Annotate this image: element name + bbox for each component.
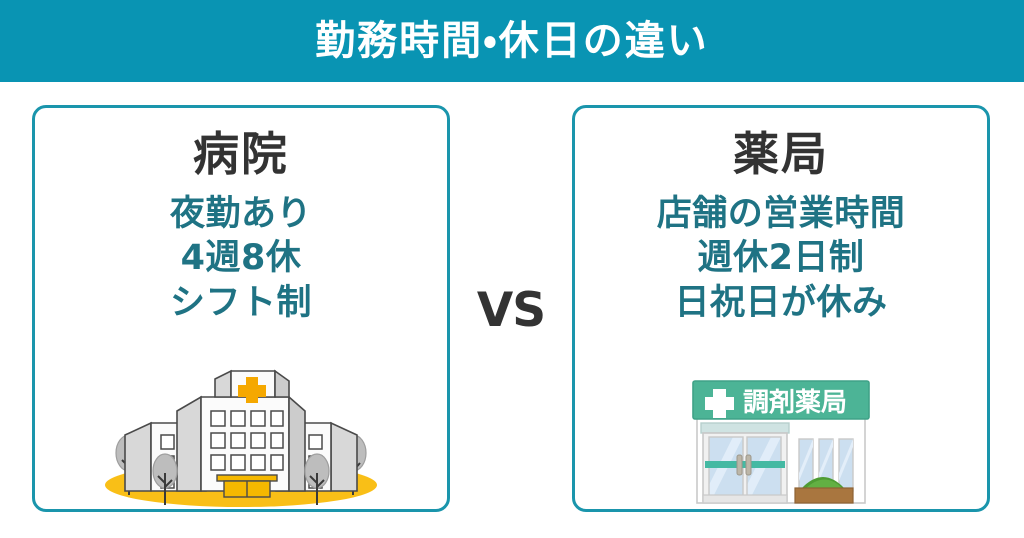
comparison-area: 病院 夜勤あり 4週8休 シフト制 [0,82,1024,538]
card-line: 店舗の営業時間 [657,192,906,237]
pharmacy-storefront-icon: 調剤薬局 [683,377,879,509]
card-lines-hospital: 夜勤あり 4週8休 シフト制 [170,192,312,326]
page-title: 勤務時間・休日の違い [315,21,709,61]
hospital-building-icon [91,367,391,509]
card-illustration-pharmacy: 調剤薬局 [575,377,987,509]
vs-separator: VS [450,82,572,538]
card-line: シフト制 [170,281,312,326]
card-illustration-hospital [35,367,447,509]
card-lines-pharmacy: 店舗の営業時間 週休2日制 日祝日が休み [657,192,906,326]
card-line: 4週8休 [181,236,302,281]
card-title-pharmacy: 薬局 [733,130,829,180]
header-banner: 勤務時間・休日の違い [0,0,1024,82]
vs-label: VS [477,287,545,334]
card-title-hospital: 病院 [193,130,289,180]
comparison-card-pharmacy: 薬局 店舗の営業時間 週休2日制 日祝日が休み 調剤薬局 [572,105,990,512]
card-line: 日祝日が休み [674,281,887,326]
comparison-card-hospital: 病院 夜勤あり 4週8休 シフト制 [32,105,450,512]
card-line: 夜勤あり [170,192,312,237]
card-line: 週休2日制 [698,236,865,281]
pharmacy-sign-text: 調剤薬局 [743,388,847,418]
